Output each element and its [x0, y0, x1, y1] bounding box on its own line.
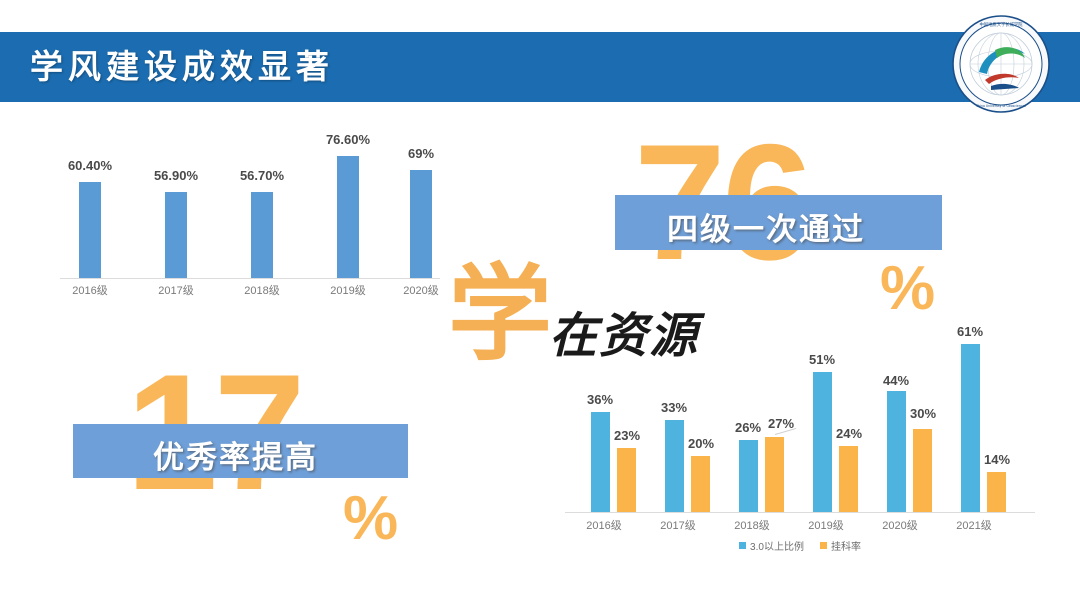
callout-excellent-rate: 17 % 优秀率提高: [98, 348, 438, 548]
bar-top-4: [410, 170, 432, 278]
chart-bottom-cat-2: 2018级: [712, 517, 792, 533]
callout-cet4-pass: 76 % 四级一次通过: [612, 118, 952, 318]
chart-bottom-cat-4: 2020级: [860, 517, 940, 533]
chart-top-plot: 60.40% 56.90% 56.70% 76.60% 69%: [60, 130, 440, 278]
legend-item-fail-rate[interactable]: 挂科率: [820, 538, 861, 553]
bar-bottom-g1-s1: [691, 456, 710, 512]
chart-bottom-cat-0: 2016级: [564, 517, 644, 533]
bar-bottom-g2-s0: [739, 440, 758, 512]
label-bottom-g0-s1: 23%: [597, 428, 657, 443]
chart-top-cat-2: 2018级: [222, 282, 302, 298]
callout-cet4-percent-sign: %: [880, 258, 935, 320]
bar-top-1: [165, 192, 187, 278]
legend-item-gpa[interactable]: 3.0以上比例: [739, 538, 804, 553]
chart-bottom-cat-5: 2021级: [934, 517, 1014, 533]
label-bottom-g2-s1: 27%: [751, 416, 811, 431]
label-bottom-g3-s0: 51%: [792, 352, 852, 367]
bar-bottom-g5-s1: [987, 472, 1006, 512]
chart-top-cat-3: 2019级: [308, 282, 388, 298]
bar-top-3: [337, 156, 359, 278]
label-bottom-g1-s0: 33%: [644, 400, 704, 415]
bar-top-label-4: 69%: [381, 146, 461, 161]
bar-top-label-3: 76.60%: [308, 132, 388, 147]
page-title: 学风建设成效显著: [30, 40, 334, 94]
callout-excellent-label: 优秀率提高: [153, 432, 318, 477]
label-bottom-g4-s1: 30%: [893, 406, 953, 421]
label-bottom-g3-s1: 24%: [819, 426, 879, 441]
chart-bottom-cat-3: 2019级: [786, 517, 866, 533]
svg-text:中国地质大学长城学院: 中国地质大学长城学院: [980, 21, 1024, 28]
label-bottom-g4-s0: 44%: [866, 373, 926, 388]
legend-label-fail-rate: 挂科率: [831, 538, 861, 553]
callout-cet4-label: 四级一次通过: [667, 204, 865, 249]
bar-bottom-g2-s1: [765, 437, 784, 512]
chart-top-axis: [60, 278, 440, 279]
chart-bottom-plot: 36% 33% 26% 51% 44% 61% 23% 20% 27% 24% …: [565, 330, 1035, 512]
svg-text:China University of Geoscience: China University of Geosciences: [976, 104, 1026, 108]
bar-bottom-g3-s1: [839, 446, 858, 512]
legend-label-gpa: 3.0以上比例: [750, 538, 804, 553]
bar-top-0: [79, 182, 101, 278]
university-logo: 中国地质大学长城学院 China University of Geoscienc…: [951, 14, 1051, 114]
bar-top-2: [251, 192, 273, 278]
bar-top-label-2: 56.70%: [222, 168, 302, 183]
label-bottom-g5-s0: 61%: [940, 324, 1000, 339]
bar-bottom-g0-s1: [617, 448, 636, 512]
label-bottom-g1-s1: 20%: [671, 436, 731, 451]
chart-cet4-pass-rate: 60.40% 56.90% 56.70% 76.60% 69% 2016级 20…: [60, 130, 440, 300]
chart-bottom-cat-1: 2017级: [638, 517, 718, 533]
chart-top-cat-0: 2016级: [50, 282, 130, 298]
legend-swatch-fail-rate: [820, 542, 827, 549]
bar-top-label-1: 56.90%: [136, 168, 216, 183]
chart-gpa-and-fail-rate: 36% 33% 26% 51% 44% 61% 23% 20% 27% 24% …: [565, 330, 1035, 540]
calligraphy-big-char: 学: [448, 262, 552, 366]
chart-bottom-legend: 3.0以上比例 挂科率: [565, 538, 1035, 553]
bar-bottom-g5-s0: [961, 344, 980, 512]
bar-top-label-0: 60.40%: [50, 158, 130, 173]
bar-bottom-g0-s0: [591, 412, 610, 512]
bar-bottom-g3-s0: [813, 372, 832, 512]
bar-bottom-g4-s1: [913, 429, 932, 512]
label-bottom-g5-s1: 14%: [967, 452, 1027, 467]
chart-bottom-axis: [565, 512, 1035, 513]
slide-canvas: 学风建设成效显著 中国地质大学长城学院 China University of …: [0, 0, 1080, 608]
legend-swatch-gpa: [739, 542, 746, 549]
label-bottom-g0-s0: 36%: [570, 392, 630, 407]
chart-top-cat-1: 2017级: [136, 282, 216, 298]
bar-bottom-g1-s0: [665, 420, 684, 512]
callout-excellent-percent-sign: %: [343, 488, 398, 550]
